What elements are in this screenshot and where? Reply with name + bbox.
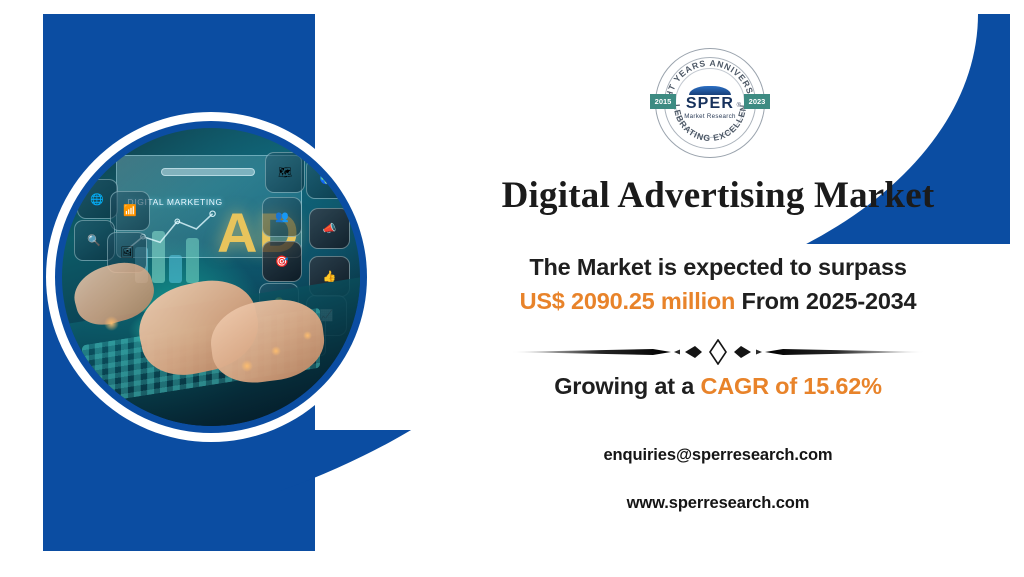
summary-line-2: US$ 2090.25 million From 2025-2034 [440,284,996,318]
registered-mark-icon: ® [737,103,741,109]
period-prefix: From [742,288,800,314]
page-title: Digital Advertising Market [440,176,996,217]
hero-photo: DIGITAL MARKETING AD 🌐 📶 🔍 🖼 🗺 🌍 👥 📣 🎯 👍… [62,128,360,426]
divider-icon [503,339,933,365]
wifi-icon: 📶 [110,191,151,232]
megaphone-icon: 📣 [309,208,350,249]
world-map-icon: 🗺 [265,152,306,193]
badge-core: SPER Market Research ® [676,83,744,123]
contact-block: enquiries@sperresearch.com www.sperresea… [440,447,996,512]
hero-photo-circle: DIGITAL MARKETING AD 🌐 📶 🔍 🖼 🗺 🌍 👥 📣 🎯 👍… [46,112,376,442]
people-icon: 👥 [262,197,303,238]
logo-wordmark: SPER [686,96,734,112]
marketing-banner: DIGITAL MARKETING AD 🌐 📶 🔍 🖼 🗺 🌍 👥 📣 🎯 👍… [0,0,1024,577]
cagr-line: Growing at a CAGR of 15.62% [440,373,996,400]
content-block: Digital Advertising Market The Market is… [440,176,996,512]
forecast-period: 2025-2034 [806,288,917,314]
bokeh-3 [271,346,281,356]
search-bar-graphic [161,168,255,176]
world-map-icon-2: 🌍 [306,158,347,199]
cagr-value: CAGR of 15.62% [700,373,881,399]
bokeh-1 [104,316,119,331]
badge-year-start: 2015 [650,94,676,109]
target-icon: 🎯 [262,241,303,282]
summary-line-1: The Market is expected to surpass [440,250,996,284]
swoosh-icon [689,86,731,95]
ornamental-divider [503,339,933,365]
market-summary: The Market is expected to surpass US$ 20… [440,250,996,318]
cagr-prefix: Growing at a [554,373,694,399]
badge-year-end: 2023 [744,94,770,109]
market-value: US$ 2090.25 million [520,288,736,314]
bokeh-2 [241,360,253,372]
contact-email[interactable]: enquiries@sperresearch.com [440,447,996,464]
sper-logo-badge: EIGHT YEARS ANNIVERSARY CELEBRATING EXCE… [655,48,765,158]
bokeh-4 [303,331,312,340]
contact-website[interactable]: www.sperresearch.com [440,495,996,512]
logo-tagline: Market Research [684,113,736,120]
